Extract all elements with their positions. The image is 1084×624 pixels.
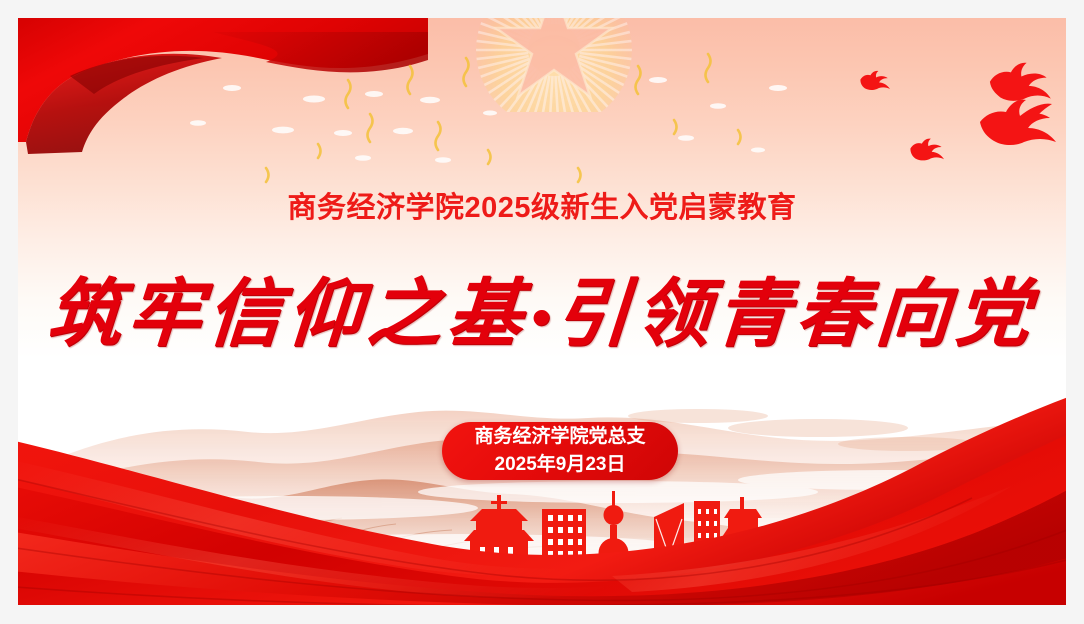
title-separator-dot: •: [525, 294, 557, 345]
event-main-title: 筑牢信仰之基•引领青春向党: [18, 254, 1066, 361]
event-banner: 商务经济学院2025级新生入党启蒙教育 筑牢信仰之基•引领青春向党 商务经济学院…: [18, 18, 1066, 605]
organizer-date-badge: 商务经济学院党总支 2025年9月23日: [442, 422, 678, 480]
organizer-name: 商务经济学院党总支: [474, 423, 645, 451]
event-date: 2025年9月23日: [495, 451, 626, 479]
event-subtitle: 商务经济学院2025级新生入党启蒙教育: [18, 184, 1066, 226]
main-title-part1: 筑牢信仰之基: [44, 271, 530, 357]
main-title-part2: 引领青春向党: [553, 271, 1039, 357]
